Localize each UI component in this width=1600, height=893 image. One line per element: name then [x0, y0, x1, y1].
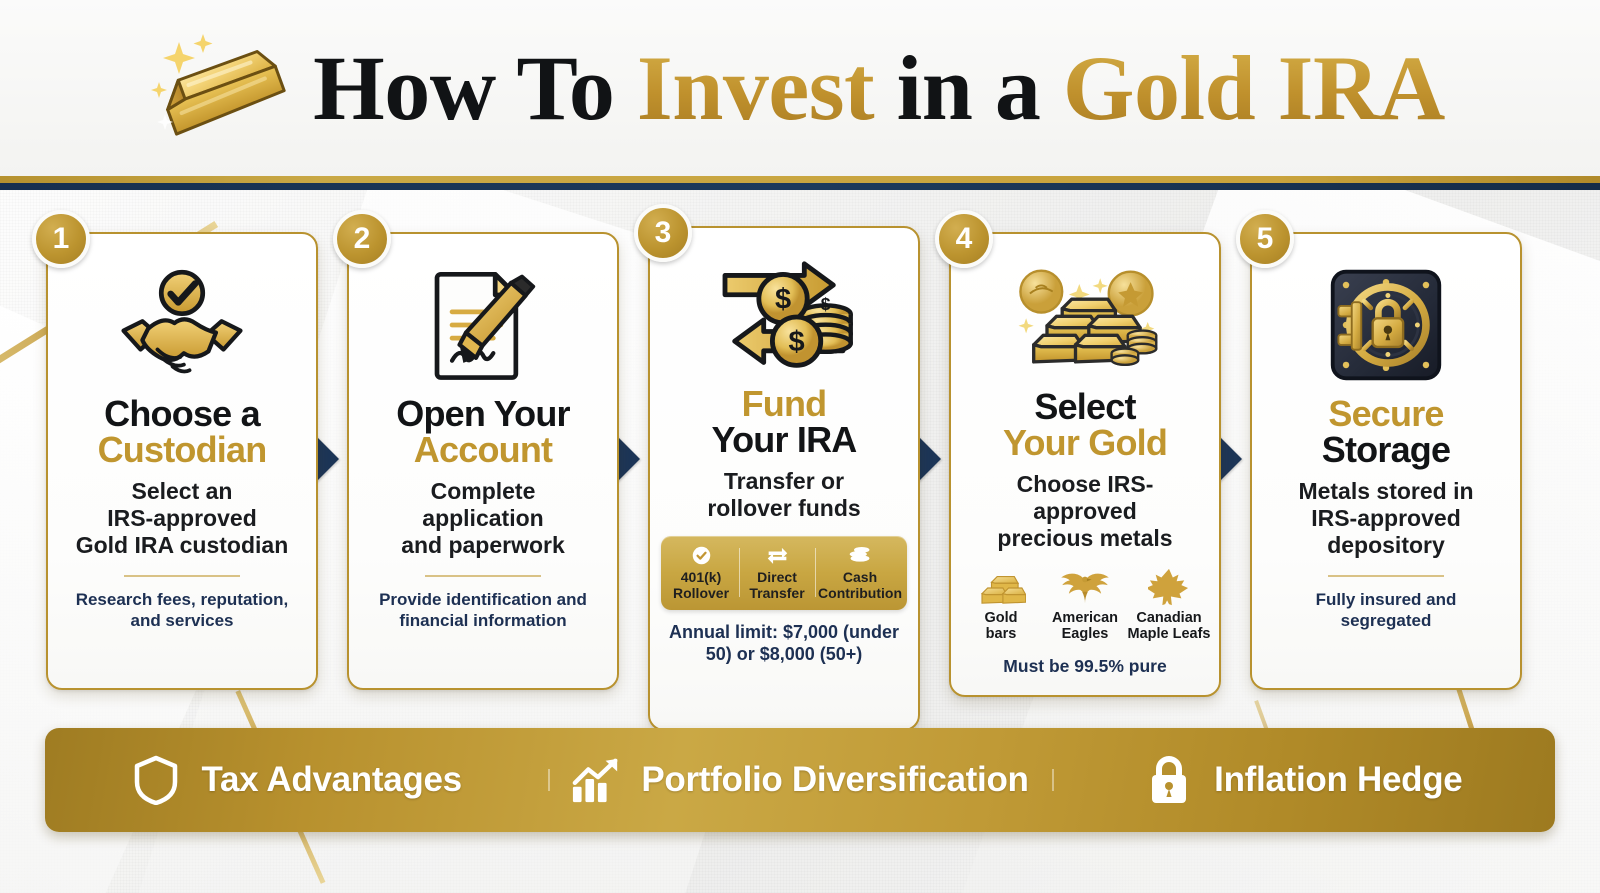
page-title: How To Invest in a Gold IRA [313, 42, 1445, 134]
metal-item-maple-leafs[interactable]: Canadian Maple Leafs [1127, 565, 1211, 642]
step-number-badge-2: 2 [333, 210, 391, 268]
benefit-label-2: Portfolio Diversification [641, 760, 1028, 800]
shield-icon [131, 753, 181, 807]
benefit-label-3: Inflation Hedge [1214, 760, 1462, 800]
funding-option-direct-transfer[interactable]: Direct Transfer [739, 544, 815, 601]
title-part-3: in a [897, 37, 1063, 139]
step-title-line1-2: Open Your [396, 396, 570, 432]
step-card-5[interactable]: 5 [1250, 232, 1522, 690]
infographic-root: How To Invest in a Gold IRA 1 [0, 0, 1600, 893]
coin-stack-icon [848, 544, 872, 566]
purity-requirement-text: Must be 99.5% pure [1003, 656, 1166, 677]
step-number-badge-1: 1 [32, 210, 90, 268]
step-title-line1-3: Fund [712, 386, 857, 422]
metal-label-1: Gold bars [984, 610, 1017, 642]
step-title-line2-4: Your Gold [1003, 425, 1167, 461]
two-way-arrows-icon [766, 544, 789, 566]
annual-limit-text: Annual limit: $7,000 (under 50) or $8,00… [669, 622, 899, 666]
step-title-line1-5: Secure [1322, 396, 1450, 432]
benefit-label-1: Tax Advantages [201, 760, 461, 800]
divider-gold [0, 176, 1600, 183]
vault-safe-lock-icon [1327, 262, 1445, 388]
step-title-line1-1: Choose a [98, 396, 267, 432]
step-divider-5 [1328, 575, 1444, 577]
step-note-5: Fully insured and segregated [1316, 590, 1457, 631]
divider-navy [0, 183, 1600, 190]
title-part-2: Invest [637, 37, 897, 139]
handshake-check-icon [116, 262, 248, 388]
title-part-4: Gold IRA [1063, 37, 1445, 139]
american-eagle-icon [1059, 565, 1111, 607]
step-description-2: Complete application and paperwork [401, 478, 565, 559]
svg-text:$: $ [821, 294, 831, 314]
step-title-line2-2: Account [396, 432, 570, 468]
svg-text:$: $ [775, 283, 791, 315]
funding-options-badge: 401(k) Rollover Direct Transfer [661, 536, 907, 610]
step-title-1: Choose a Custodian [98, 396, 267, 468]
svg-text:$: $ [789, 326, 805, 358]
step-description-5: Metals stored in IRS-approved depository [1298, 478, 1473, 559]
benefit-inflation-hedge[interactable]: Inflation Hedge [1052, 753, 1555, 807]
step-description-3: Transfer or rollover funds [707, 468, 860, 522]
step-title-line1-4: Select [1003, 389, 1167, 425]
step-title-4: Select Your Gold [1003, 389, 1167, 461]
metal-label-3: Canadian Maple Leafs [1128, 610, 1211, 642]
step-divider-1 [124, 575, 240, 577]
gold-bar-icon [143, 28, 303, 148]
title-part-1: How To [313, 37, 637, 139]
gold-bars-coins-icon [1009, 262, 1161, 381]
step-card-4[interactable]: 4 [949, 232, 1221, 697]
step-description-1: Select an IRS-approved Gold IRA custodia… [76, 478, 289, 559]
check-circle-icon [691, 544, 712, 566]
step-title-line2-5: Storage [1322, 432, 1450, 468]
step-title-line2-1: Custodian [98, 432, 267, 468]
step-divider-2 [425, 575, 541, 577]
step-card-3[interactable]: 3 [648, 226, 920, 731]
step-note-2: Provide identification and financial inf… [379, 590, 587, 631]
step-description-4: Choose IRS-approved precious metals [965, 471, 1205, 552]
funding-option-cash-contribution[interactable]: Cash Contribution [815, 544, 905, 601]
gold-bars-icon [976, 565, 1026, 607]
metal-label-2: American Eagles [1052, 610, 1118, 642]
step-number-badge-4: 4 [935, 210, 993, 268]
approved-metals-list: Gold bars American Eagles [959, 565, 1211, 642]
step-title-line2-3: Your IRA [712, 422, 857, 458]
lock-icon [1144, 753, 1194, 807]
steps-container: 1 [0, 190, 1600, 710]
step-number-badge-5: 5 [1236, 210, 1294, 268]
maple-leaf-icon [1148, 565, 1190, 607]
funding-option-401k[interactable]: 401(k) Rollover [663, 544, 739, 601]
step-card-1[interactable]: 1 [46, 232, 318, 690]
metal-item-gold-bars[interactable]: Gold bars [959, 565, 1043, 642]
funding-option-label-1: 401(k) Rollover [673, 570, 729, 601]
metal-item-american-eagles[interactable]: American Eagles [1043, 565, 1127, 642]
funding-option-label-3: Cash Contribution [818, 570, 902, 601]
benefit-portfolio-diversification[interactable]: Portfolio Diversification [548, 753, 1051, 807]
document-pen-signature-icon [422, 262, 544, 388]
growth-chart-icon [571, 753, 621, 807]
step-number-badge-3: 3 [634, 204, 692, 262]
step-title-2: Open Your Account [396, 396, 570, 468]
funding-option-label-2: Direct Transfer [749, 570, 804, 601]
transfer-arrows-coins-icon: $ $ $ [711, 256, 857, 378]
benefits-footer-bar: Tax Advantages Portfolio Diversification [45, 728, 1555, 832]
header: How To Invest in a Gold IRA [0, 0, 1600, 176]
step-card-2[interactable]: 2 [347, 232, 619, 690]
benefit-tax-advantages[interactable]: Tax Advantages [45, 753, 548, 807]
step-title-3: Fund Your IRA [712, 386, 857, 458]
step-note-1: Research fees, reputation, and services [76, 590, 289, 631]
step-title-5: Secure Storage [1322, 396, 1450, 468]
